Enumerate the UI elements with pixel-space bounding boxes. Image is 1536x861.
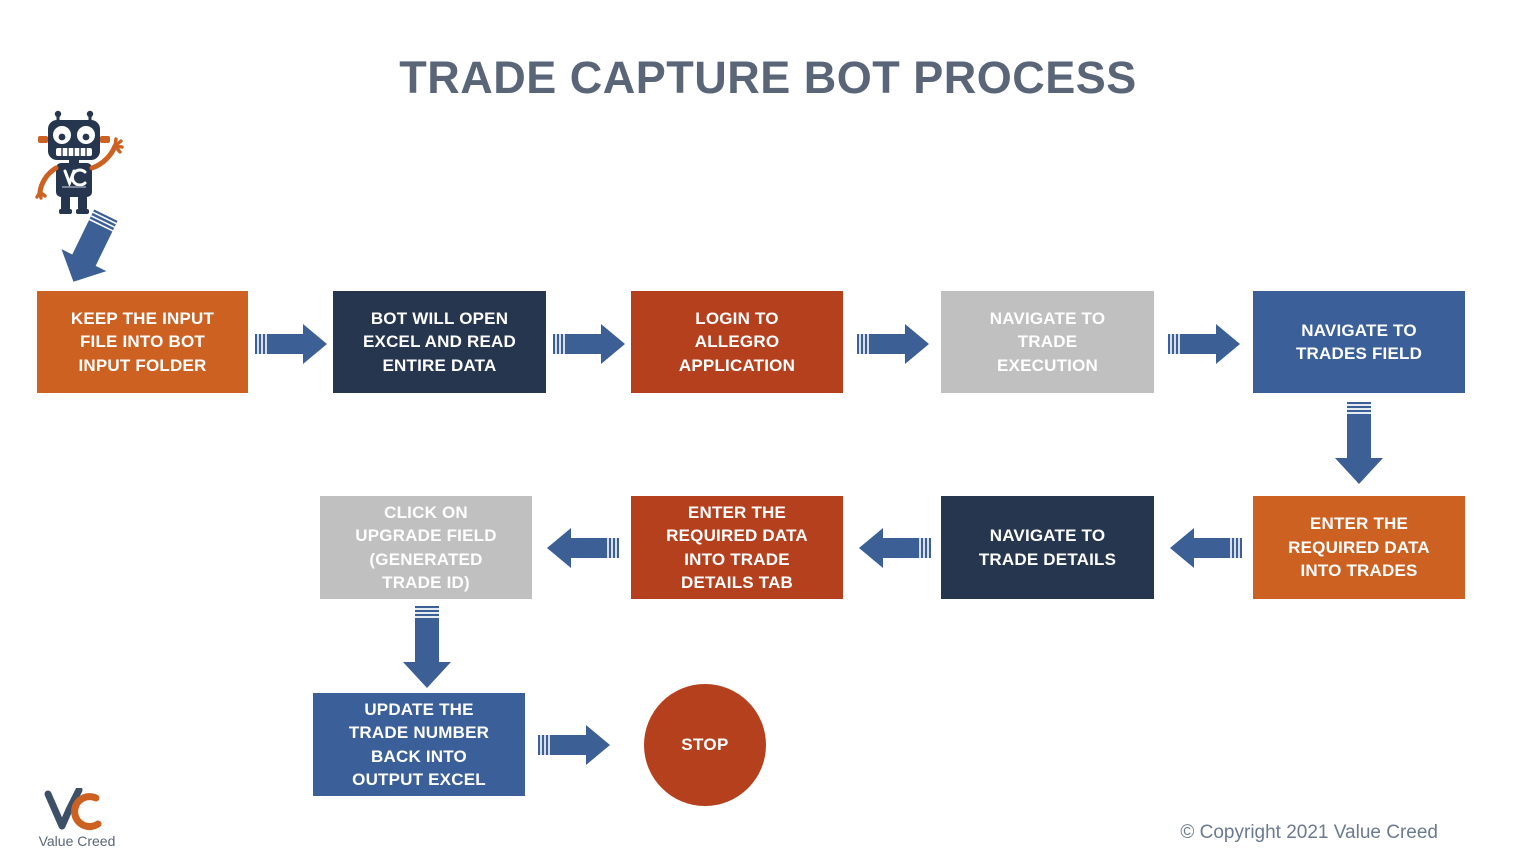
copyright-notice: © Copyright 2021 Value Creed [1180,822,1438,844]
vc-monogram-icon [22,788,132,834]
process-step-keep-input-file[interactable]: KEEP THE INPUT FILE INTO BOT INPUT FOLDE… [37,291,248,393]
arrow-step9-to-step10 [401,604,453,690]
arrow-step2-to-step3 [551,322,627,366]
terminator-stop[interactable]: STOP [644,684,766,806]
arrow-step5-to-step6 [1333,400,1385,486]
arrow-step1-to-step2 [253,322,329,366]
arrow-step8-to-step9 [545,526,621,570]
arrow-step7-to-step8 [857,526,933,570]
process-step-click-upgrade-field[interactable]: CLICK ON UPGRADE FIELD (GENERATED TRADE … [320,496,532,599]
process-step-enter-data-trade-details-tab[interactable]: ENTER THE REQUIRED DATA INTO TRADE DETAI… [631,496,843,599]
process-step-navigate-trades-field[interactable]: NAVIGATE TO TRADES FIELD [1253,291,1465,393]
process-step-navigate-trade-details[interactable]: NAVIGATE TO TRADE DETAILS [941,496,1154,599]
slide-canvas: TRADE CAPTURE BOT PROCESS [0,0,1536,861]
arrow-step6-to-step7 [1168,526,1244,570]
brand-logo: Value Creed [22,788,132,854]
robot-mascot-icon [28,110,146,220]
process-step-navigate-trade-execution[interactable]: NAVIGATE TO TRADE EXECUTION [941,291,1154,393]
page-title: TRADE CAPTURE BOT PROCESS [0,52,1536,104]
arrow-step4-to-step5 [1166,322,1242,366]
process-step-bot-open-excel[interactable]: BOT WILL OPEN EXCEL AND READ ENTIRE DATA [333,291,546,393]
brand-name-label: Value Creed [22,833,132,849]
process-step-update-trade-number[interactable]: UPDATE THE TRADE NUMBER BACK INTO OUTPUT… [313,693,525,796]
arrow-step10-to-stop [536,723,612,767]
arrow-robot-to-step1 [55,206,127,290]
process-step-login-allegro[interactable]: LOGIN TO ALLEGRO APPLICATION [631,291,843,393]
process-step-enter-data-into-trades[interactable]: ENTER THE REQUIRED DATA INTO TRADES [1253,496,1465,599]
arrow-step3-to-step4 [855,322,931,366]
